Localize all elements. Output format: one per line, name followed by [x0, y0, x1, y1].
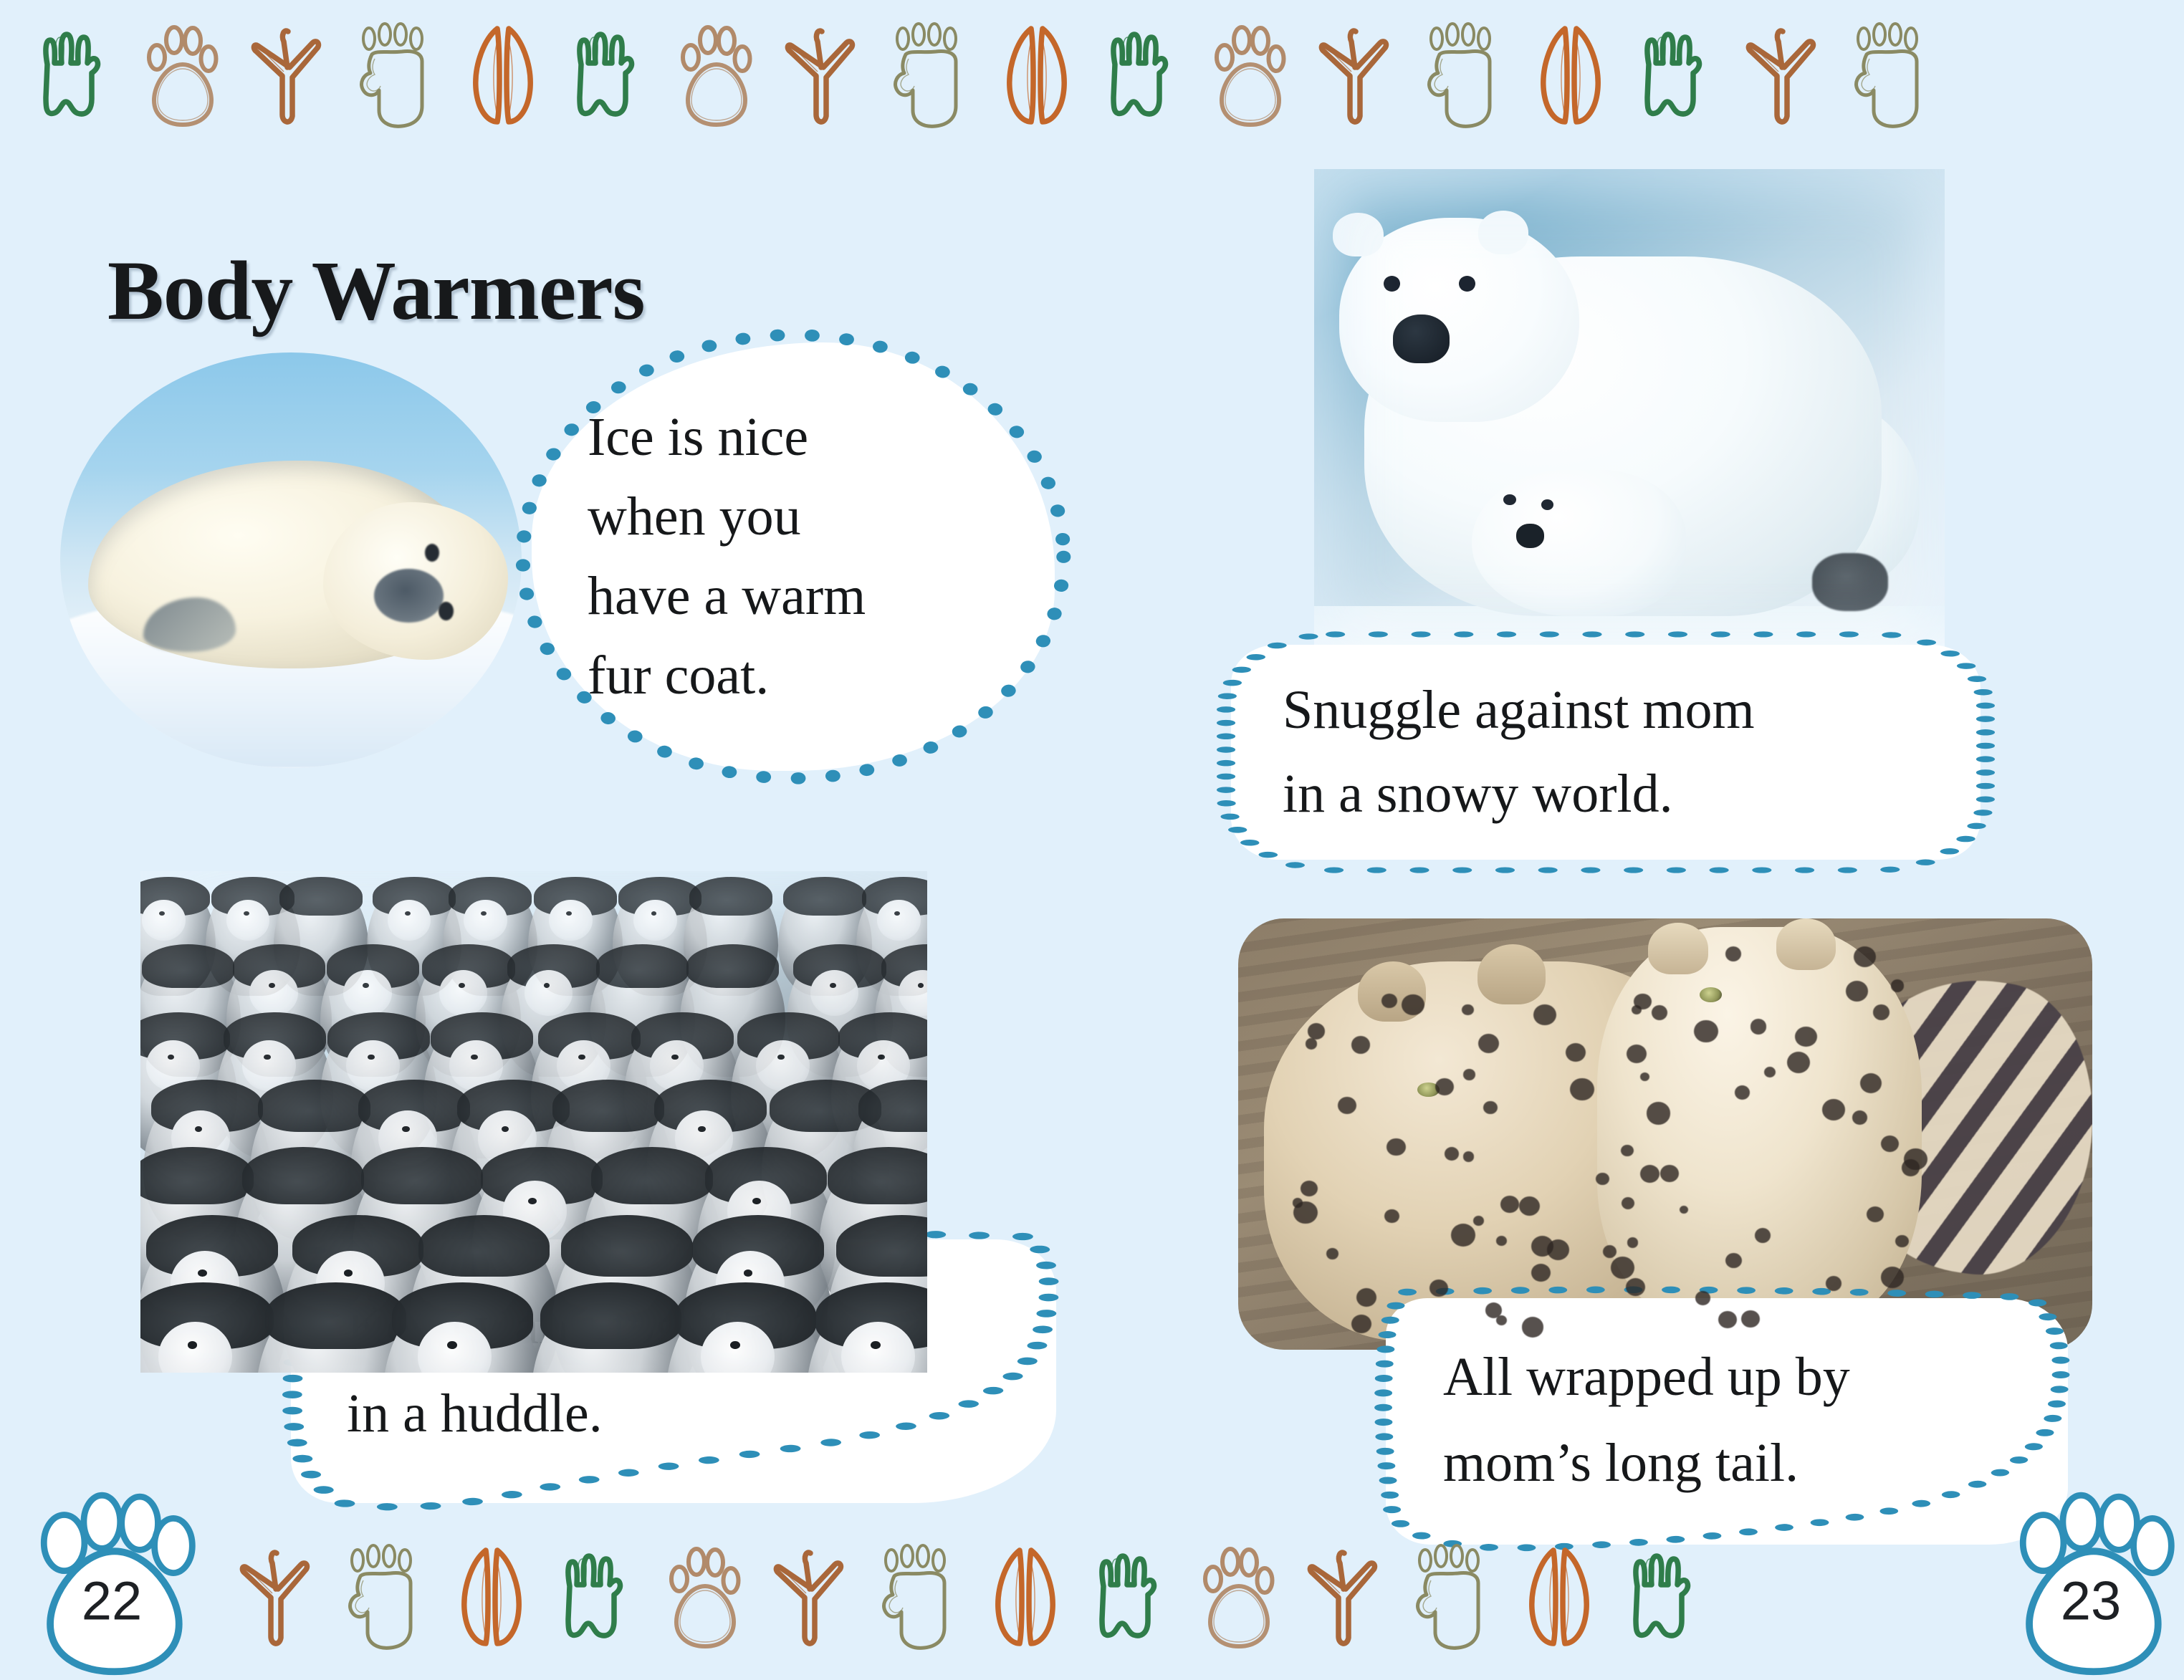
- speech-bubble-snow-leopard: All wrapped up by mom’s long tail.: [1386, 1298, 2068, 1545]
- bear-paw-track-icon: [1422, 16, 1503, 138]
- seal-muzzle: [374, 569, 444, 623]
- webbed-hand-track-icon: [1091, 1538, 1171, 1660]
- webbed-hand-track-icon: [568, 16, 648, 138]
- leopard-rosette: [1902, 1159, 1920, 1176]
- leopard-rosette: [1725, 1253, 1742, 1269]
- bear-paw-track-icon: [877, 1538, 957, 1660]
- cat-paw-track-icon: [141, 16, 221, 138]
- bird-foot-track-icon: [236, 1538, 317, 1660]
- penguin-eye: [159, 911, 165, 916]
- penguin-eye: [671, 1055, 679, 1060]
- bear-mother-body: [1364, 256, 1882, 616]
- penguin-eye: [471, 1055, 478, 1060]
- bubble-line: fur coat.: [588, 636, 1003, 716]
- top-track-border: [0, 0, 2184, 154]
- page-number-left: 22: [26, 1501, 198, 1680]
- cub-eye: [1541, 499, 1554, 510]
- leopard-rosette: [1735, 1085, 1750, 1100]
- cat-paw-track-icon: [675, 16, 755, 138]
- penguin-head-cap: [540, 1282, 681, 1348]
- penguin-eye: [402, 1126, 410, 1133]
- hoof-track-icon: [984, 1538, 1064, 1660]
- leopard-rosette: [1846, 981, 1868, 1002]
- penguin-eye: [752, 1198, 761, 1204]
- penguin-head-cap: [265, 1282, 406, 1348]
- webbed-hand-track-icon: [1102, 16, 1182, 138]
- leopard-rosette: [1351, 1315, 1371, 1333]
- penguin-eye: [481, 911, 487, 916]
- hoof-track-icon: [1518, 1538, 1598, 1660]
- penguin-eye: [447, 1341, 456, 1349]
- leopard-rosette: [1356, 1288, 1376, 1307]
- penguin-eye: [830, 983, 836, 988]
- leopard-rosette: [1485, 1302, 1502, 1318]
- bear-haunch: [1692, 398, 1920, 592]
- leopard-rosette: [1522, 1317, 1544, 1338]
- penguin-eye: [871, 1341, 880, 1349]
- leopard-rosette: [1531, 1264, 1551, 1282]
- penguin-face: [142, 900, 186, 941]
- leopard-rosette: [1873, 1004, 1890, 1019]
- bear-paw-track-icon: [1411, 1538, 1491, 1660]
- leopard-rosette: [1483, 1101, 1498, 1114]
- leopard-rosette: [1640, 1165, 1659, 1183]
- leopard-rosette: [1755, 1228, 1771, 1243]
- leopard-rosette: [1533, 1004, 1556, 1026]
- bear-paw-track-icon: [355, 16, 435, 138]
- bird-foot-track-icon: [770, 1538, 851, 1660]
- page-number-value: 23: [2005, 1570, 2177, 1633]
- penguin-eye: [918, 983, 924, 988]
- bear-mother-head: [1339, 218, 1579, 422]
- speech-bubble-polar-bear: Snuggle against mom in a snowy world.: [1231, 645, 1981, 860]
- bubble-line: have a warm: [588, 557, 1003, 636]
- hoof-track-icon: [995, 16, 1076, 138]
- leopard-rosette: [1566, 1043, 1586, 1062]
- penguin-face: [810, 970, 859, 1016]
- penguin-eye: [368, 1055, 375, 1060]
- leopard-rosette: [1611, 1257, 1634, 1279]
- leopard-rosette: [1435, 1078, 1454, 1095]
- penguin-eye: [651, 911, 657, 916]
- seal-eye: [439, 602, 454, 620]
- penguin-eye: [344, 1269, 353, 1277]
- hoof-track-icon: [1529, 16, 1609, 138]
- bear-eye: [1459, 276, 1475, 292]
- bird-foot-track-icon: [1316, 16, 1396, 138]
- leopard-rosette: [1308, 1023, 1325, 1039]
- page-number-value: 22: [26, 1570, 198, 1633]
- bird-foot-track-icon: [782, 16, 862, 138]
- webbed-hand-track-icon: [1624, 1538, 1705, 1660]
- penguin-eye: [188, 1341, 197, 1349]
- cat-paw-track-icon: [664, 1538, 744, 1660]
- leopard-rosette: [1463, 1069, 1475, 1080]
- leopard-rosette: [1463, 1151, 1475, 1162]
- leopard-rosette: [1293, 1201, 1317, 1224]
- hoof-track-icon: [450, 1538, 530, 1660]
- leopard-rosette: [1402, 994, 1424, 1015]
- penguin-head-cap: [279, 877, 363, 916]
- penguin-head-cap: [561, 1215, 693, 1277]
- bubble-line: All wrapped up by: [1443, 1334, 2028, 1420]
- book-spread: { "meta": { "title": "Body Warmers", "ba…: [0, 0, 2184, 1676]
- penguin-eye: [459, 983, 465, 988]
- leopard-rosette: [1473, 1216, 1484, 1226]
- bear-paw-track-icon: [889, 16, 969, 138]
- bubble-line: in a huddle.: [347, 1370, 1013, 1458]
- photo-snow-leopard-and-cub: [1238, 918, 2092, 1350]
- penguin-eye: [363, 983, 369, 988]
- leopard-rosette: [1694, 1020, 1718, 1042]
- bear-eye: [1384, 276, 1400, 292]
- penguin-face: [388, 900, 431, 941]
- penguin-face: [633, 900, 677, 941]
- penguin-head-cap: [686, 944, 779, 988]
- penguin-eye: [528, 1198, 537, 1204]
- cub-ear: [1776, 918, 1836, 970]
- photo-penguin-huddle: [140, 871, 927, 1373]
- bear-paw-track-icon: [1849, 16, 1930, 138]
- penguin-eye: [405, 911, 411, 916]
- leopard-rosette: [1627, 1045, 1647, 1063]
- penguin-chick: [806, 1290, 927, 1373]
- bottom-track-border: [0, 1522, 2184, 1676]
- leopard-rosette: [1867, 1206, 1884, 1222]
- penguin-eye: [744, 1269, 752, 1277]
- bubble-line: mom’s long tail.: [1443, 1420, 2028, 1506]
- photo-harp-seal-pup: [60, 352, 522, 768]
- penguin-face: [439, 970, 488, 1016]
- leopard-rosette: [1795, 1027, 1816, 1047]
- hoof-track-icon: [461, 16, 542, 138]
- leopard-rosette: [1634, 994, 1651, 1010]
- bubble-line: in a snowy world.: [1283, 752, 1942, 836]
- penguin-eye: [544, 983, 550, 988]
- cub-nose: [1516, 524, 1545, 548]
- bird-foot-track-icon: [1304, 1538, 1384, 1660]
- leopard-rosette: [1519, 1196, 1540, 1216]
- bear-cub: [1472, 470, 1686, 615]
- penguin-eye: [777, 1055, 785, 1060]
- penguin-head-cap: [783, 877, 866, 916]
- leopard-cub: [1597, 927, 1922, 1324]
- penguin-eye: [730, 1341, 739, 1349]
- bird-foot-track-icon: [1743, 16, 1823, 138]
- penguin-chick: [531, 1290, 691, 1373]
- leopard-rosette: [1718, 1311, 1737, 1328]
- speech-bubble-seal: Ice is nice when you have a warm fur coa…: [532, 342, 1055, 771]
- penguin-head-cap: [140, 1147, 254, 1204]
- penguin-head-cap: [142, 944, 234, 988]
- page-number-right: 23: [2005, 1501, 2177, 1680]
- penguin-face: [549, 900, 593, 941]
- penguin-eye: [698, 1126, 706, 1133]
- bear-ear: [1478, 211, 1528, 254]
- bubble-line: Snuggle against mom: [1283, 668, 1942, 752]
- leopard-rosette: [1647, 1102, 1670, 1124]
- leopard-rosette: [1570, 1078, 1594, 1101]
- penguin-face: [877, 900, 921, 941]
- leopard-rosette: [1478, 1034, 1499, 1053]
- penguin-eye: [566, 911, 572, 916]
- penguin-eye: [264, 1055, 271, 1060]
- penguin-eye: [578, 1055, 585, 1060]
- penguin-eye: [168, 1055, 175, 1060]
- bear-paw: [1812, 553, 1888, 611]
- leopard-rosette: [1750, 1019, 1767, 1034]
- cub-ear: [1648, 923, 1708, 974]
- leopard-rosette: [1895, 1235, 1909, 1247]
- webbed-hand-track-icon: [34, 16, 115, 138]
- leopard-rosette: [1429, 1280, 1448, 1297]
- leopard-rosette: [1351, 1036, 1371, 1054]
- leopard-rosette: [1652, 1005, 1667, 1020]
- penguin-face: [226, 900, 270, 941]
- leopard-rosette: [1822, 1099, 1845, 1120]
- penguin-eye: [195, 1126, 203, 1133]
- leopard-rosette: [1326, 1248, 1338, 1259]
- penguin-chick: [383, 1290, 543, 1373]
- penguin-eye: [244, 911, 249, 916]
- leopard-rosette: [1680, 1206, 1688, 1214]
- leopard-rosette: [1445, 1147, 1459, 1161]
- leopard-rosette: [1852, 1110, 1867, 1125]
- penguin-head-cap: [591, 1147, 713, 1204]
- leopard-rosette: [1891, 979, 1904, 992]
- leopard-rosette: [1725, 946, 1741, 961]
- leopard-rosette: [1384, 1209, 1399, 1223]
- leopard-rosette: [1741, 1310, 1759, 1328]
- cub-eye: [1700, 987, 1722, 1002]
- penguin-eye: [198, 1269, 206, 1277]
- penguin-eye: [894, 911, 900, 916]
- penguin-face: [525, 970, 573, 1016]
- penguin-face: [249, 970, 298, 1016]
- leopard-rosette: [1381, 994, 1397, 1009]
- penguin-head-cap: [596, 944, 689, 988]
- bear-snout: [1371, 305, 1478, 383]
- penguin-eye: [502, 1126, 509, 1133]
- penguin-head-cap: [242, 1147, 364, 1204]
- leopard-rosette: [1787, 1052, 1811, 1073]
- leopard-rosette: [1881, 1267, 1904, 1288]
- cat-paw-track-icon: [1209, 16, 1289, 138]
- bear-ear: [1333, 213, 1383, 256]
- penguin-head-cap: [552, 1080, 665, 1132]
- photo-polar-bear-and-cub: [1314, 169, 1945, 655]
- leopard-rosette: [1547, 1239, 1569, 1260]
- bubble-line: Ice is nice: [588, 398, 1003, 477]
- leopard-rosette: [1462, 1004, 1473, 1015]
- leopard-rosette: [1660, 1165, 1678, 1182]
- webbed-hand-track-icon: [557, 1538, 637, 1660]
- penguin-head-cap: [689, 877, 772, 916]
- penguin-eye: [269, 983, 275, 988]
- penguin-face: [343, 970, 392, 1016]
- cat-paw-track-icon: [1197, 1538, 1278, 1660]
- leopard-ear: [1477, 944, 1546, 1004]
- bear-paw-track-icon: [343, 1538, 423, 1660]
- bird-foot-track-icon: [248, 16, 328, 138]
- cub-eye: [1503, 494, 1516, 505]
- webbed-hand-track-icon: [1636, 16, 1716, 138]
- leopard-rosette: [1451, 1224, 1475, 1247]
- page-title: Body Warmers: [107, 249, 645, 333]
- leopard-rosette: [1627, 1237, 1639, 1248]
- penguin-chick: [666, 1290, 826, 1373]
- penguin-face: [464, 900, 507, 941]
- leopard-rosette: [1764, 1067, 1776, 1077]
- bear-nose: [1393, 315, 1450, 363]
- bubble-line: when you: [588, 477, 1003, 557]
- leopard-rosette: [1386, 1138, 1405, 1156]
- penguin-eye: [878, 1055, 885, 1060]
- leopard-rosette: [1306, 1038, 1317, 1049]
- penguin-head-cap: [258, 1080, 370, 1132]
- leopard-rosette: [1496, 1236, 1507, 1246]
- penguin-head-cap: [361, 1147, 483, 1204]
- penguin-head-cap: [418, 1215, 550, 1277]
